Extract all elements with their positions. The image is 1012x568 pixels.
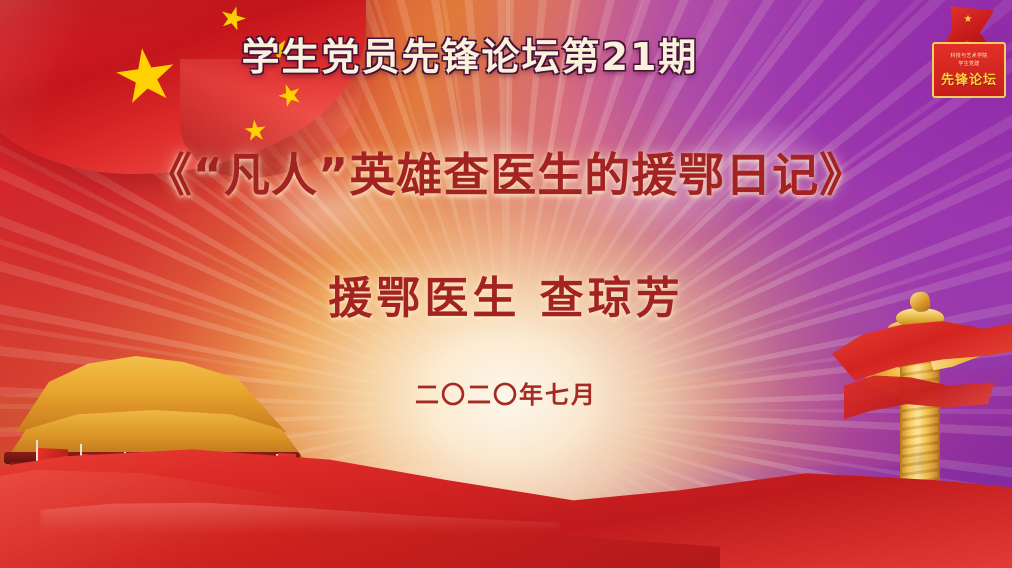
- party-emblem-icon: ★: [962, 14, 974, 26]
- page-title: 《“凡人”英雄查医生的援鄂日记》: [0, 139, 1012, 205]
- slide-header-text: 学生党员先锋论坛第21期: [0, 26, 1012, 81]
- slide-date: 二〇二〇年七月: [0, 375, 1012, 410]
- presentation-title-slide: 中华人民共和国万岁 ★ 科技与艺术学院 学生党建 先锋论坛 学生党员先锋论坛第2…: [0, 0, 1012, 568]
- slide-subtitle: 援鄂医生 查琼芳: [0, 262, 1012, 326]
